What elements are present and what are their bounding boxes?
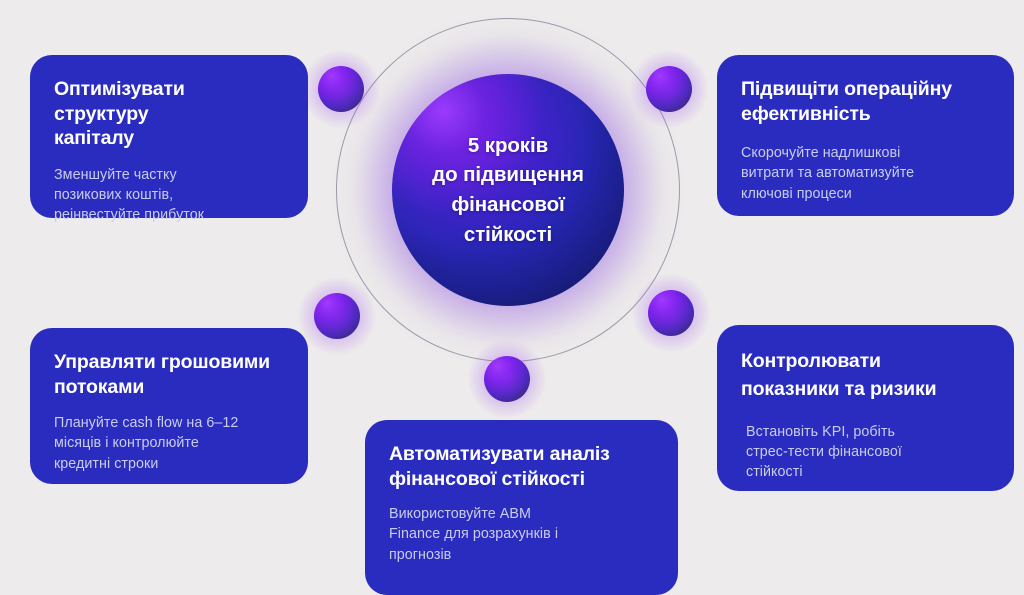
step-card-control-metrics-and-risks[interactable]: Контролювати показники та ризики Встанов… [717, 325, 1014, 491]
step-card-body: Зменшуйте частку позикових коштів, реінв… [54, 165, 284, 226]
center-sphere-label: 5 кроків до підвищення фінансової стійко… [432, 131, 584, 249]
step-card-automate-financial-stability-analysis[interactable]: Автоматизувати аналіз фінансової стійкос… [365, 420, 678, 595]
step-card-title: Оптимізувати структуру капіталу [54, 77, 284, 151]
step-card-body: Скорочуйте надлишкові витрати та автомат… [741, 143, 990, 204]
step-card-optimize-capital-structure[interactable]: Оптимізувати структуру капіталу Зменшуйт… [30, 55, 308, 218]
step-card-body: Використовуйте ABM Finance для розрахунк… [389, 504, 654, 565]
step-card-body: Плануйте cash flow на 6–12 місяців і кон… [54, 413, 284, 474]
orbit-node-bottom[interactable] [484, 356, 530, 402]
step-card-title: Контролювати показники та ризики [741, 347, 990, 404]
step-card-title: Автоматизувати аналіз фінансової стійкос… [389, 442, 654, 491]
step-card-body: Встановіть KPI, робіть стрес-тести фінан… [741, 422, 990, 483]
orbit-node-top-right[interactable] [646, 66, 692, 112]
step-card-increase-operational-efficiency[interactable]: Підвищіти операційну ефективність Скороч… [717, 55, 1014, 216]
orbit-node-left[interactable] [314, 293, 360, 339]
infographic-canvas: 5 кроків до підвищення фінансової стійко… [0, 0, 1024, 576]
center-sphere: 5 кроків до підвищення фінансової стійко… [392, 74, 624, 306]
orbit-node-top-left[interactable] [318, 66, 364, 112]
step-card-manage-cash-flows[interactable]: Управляти грошовими потоками Плануйте ca… [30, 328, 308, 484]
step-card-title: Підвищіти операційну ефективність [741, 77, 990, 126]
orbit-node-right[interactable] [648, 290, 694, 336]
step-card-title: Управляти грошовими потоками [54, 350, 284, 399]
